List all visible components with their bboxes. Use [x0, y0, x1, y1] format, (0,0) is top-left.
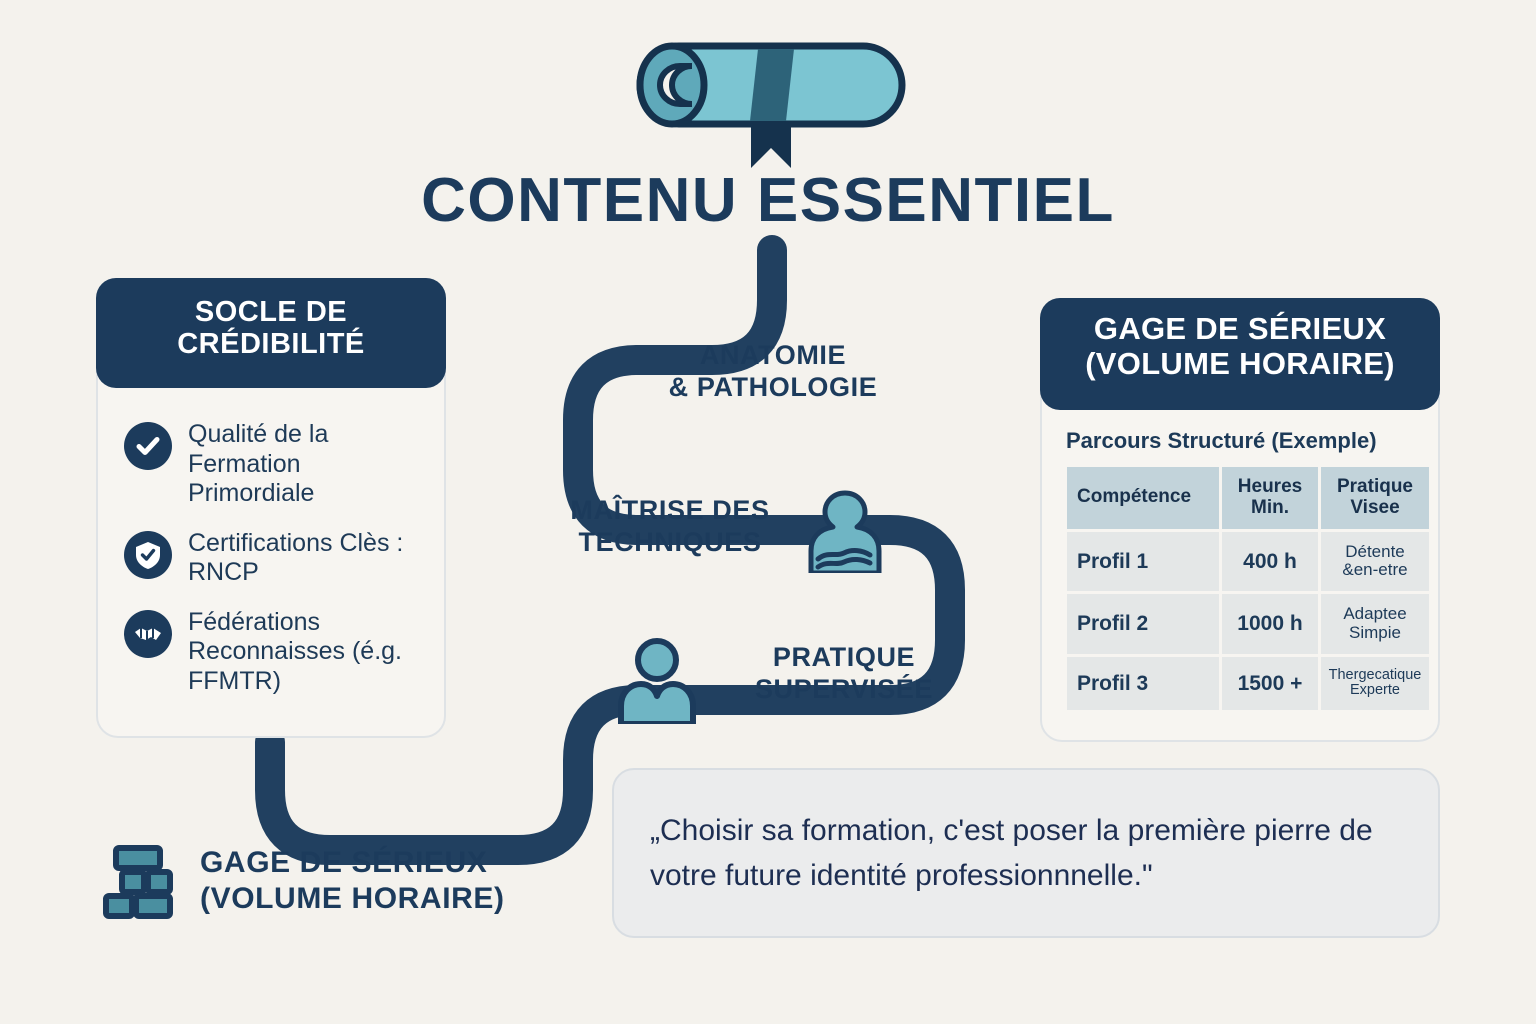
- flow-step-1-line2: & PATHOLOGIE: [608, 372, 938, 404]
- list-item-label: Qualité de la Fermation Primordiale: [188, 420, 430, 509]
- bottom-label-line2: (VOLUME HORAIRE): [200, 881, 505, 917]
- volume-header-line2: (VOLUME HORAIRE): [1040, 347, 1440, 382]
- table-caption: Parcours Structuré (Exemple): [1066, 428, 1420, 454]
- flow-step-2-line1: MAÎTRISE DES: [540, 495, 800, 527]
- list-item: Qualité de la Fermation Primordiale: [98, 410, 448, 519]
- cell-pratique: Thergecatique Experte: [1321, 657, 1429, 711]
- volume-header-line1: GAGE DE SÉRIEUX: [1040, 312, 1440, 347]
- list-item-label: Fédérations Reconnaisses (é.g. FFMTR): [188, 608, 430, 697]
- person-icon: [612, 636, 702, 724]
- cell-competence: Profil 3: [1067, 657, 1219, 711]
- table-row: Profil 1 400 h Détente &en-etre: [1067, 532, 1429, 591]
- credibility-header-line1: SOCLE DE: [96, 296, 446, 328]
- parcours-table: Compétence Heures Min. Pratique Visee Pr…: [1064, 464, 1432, 713]
- column-header-pratique: Pratique Visee: [1321, 467, 1429, 529]
- quote-box: „Choisir sa formation, c'est poser la pr…: [612, 768, 1440, 938]
- bottom-volume-label: GAGE DE SÉRIEUX (VOLUME HORAIRE): [100, 842, 505, 920]
- cell-heures: 400 h: [1222, 532, 1318, 591]
- table-row: Profil 3 1500 + Thergecatique Experte: [1067, 657, 1429, 711]
- page-title: CONTENU ESSENTIEL: [0, 168, 1536, 233]
- volume-card-body: Parcours Structuré (Exemple) Compétence …: [1042, 420, 1442, 713]
- shield-check-icon: [124, 531, 172, 579]
- infographic-canvas: CONTENU ESSENTIEL SOCLE DE CRÉDIBILITÉ Q…: [0, 0, 1536, 1024]
- volume-card-header: GAGE DE SÉRIEUX (VOLUME HORAIRE): [1040, 298, 1440, 410]
- flow-step-3-line2: SUPERVISÉE: [714, 674, 974, 706]
- credibility-card-header: SOCLE DE CRÉDIBILITÉ: [96, 278, 446, 388]
- list-item-label: Certifications Clès : RNCP: [188, 529, 430, 588]
- list-item: Certifications Clès : RNCP: [98, 519, 448, 598]
- column-header-competence: Compétence: [1067, 467, 1219, 529]
- flow-step-1-line1: ANATOMIE: [608, 340, 938, 372]
- flow-step-pratique: PRATIQUE SUPERVISÉE: [714, 642, 974, 706]
- bricks-icon: [100, 842, 178, 920]
- list-item: Fédérations Reconnaisses (é.g. FFMTR): [98, 598, 448, 707]
- flow-step-anatomie: ANATOMIE & PATHOLOGIE: [608, 340, 938, 404]
- check-circle-icon: [124, 422, 172, 470]
- flow-step-3-line1: PRATIQUE: [714, 642, 974, 674]
- cell-pratique: Détente &en-etre: [1321, 532, 1429, 591]
- massage-person-icon: [802, 487, 888, 573]
- cell-competence: Profil 1: [1067, 532, 1219, 591]
- flow-step-techniques: MAÎTRISE DES TECHNIQUES: [540, 495, 800, 559]
- cell-competence: Profil 2: [1067, 594, 1219, 653]
- cell-pratique: Adaptee Simpie: [1321, 594, 1429, 653]
- diploma-scroll-icon: [618, 36, 918, 171]
- bottom-label-text: GAGE DE SÉRIEUX (VOLUME HORAIRE): [200, 845, 505, 917]
- quote-text: „Choisir sa formation, c'est poser la pr…: [650, 808, 1402, 898]
- bottom-label-line1: GAGE DE SÉRIEUX: [200, 845, 505, 881]
- credibility-card: SOCLE DE CRÉDIBILITÉ Qualité de la Ferma…: [96, 278, 446, 738]
- cell-heures: 1000 h: [1222, 594, 1318, 653]
- volume-horaire-card: GAGE DE SÉRIEUX (VOLUME HORAIRE) Parcour…: [1040, 298, 1440, 742]
- table-header-row: Compétence Heures Min. Pratique Visee: [1067, 467, 1429, 529]
- handshake-icon: [124, 610, 172, 658]
- credibility-list: Qualité de la Fermation Primordiale Cert…: [98, 396, 448, 706]
- flow-step-2-line2: TECHNIQUES: [540, 527, 800, 559]
- table-row: Profil 2 1000 h Adaptee Simpie: [1067, 594, 1429, 653]
- cell-heures: 1500 +: [1222, 657, 1318, 711]
- column-header-heures: Heures Min.: [1222, 467, 1318, 529]
- credibility-header-line2: CRÉDIBILITÉ: [96, 328, 446, 360]
